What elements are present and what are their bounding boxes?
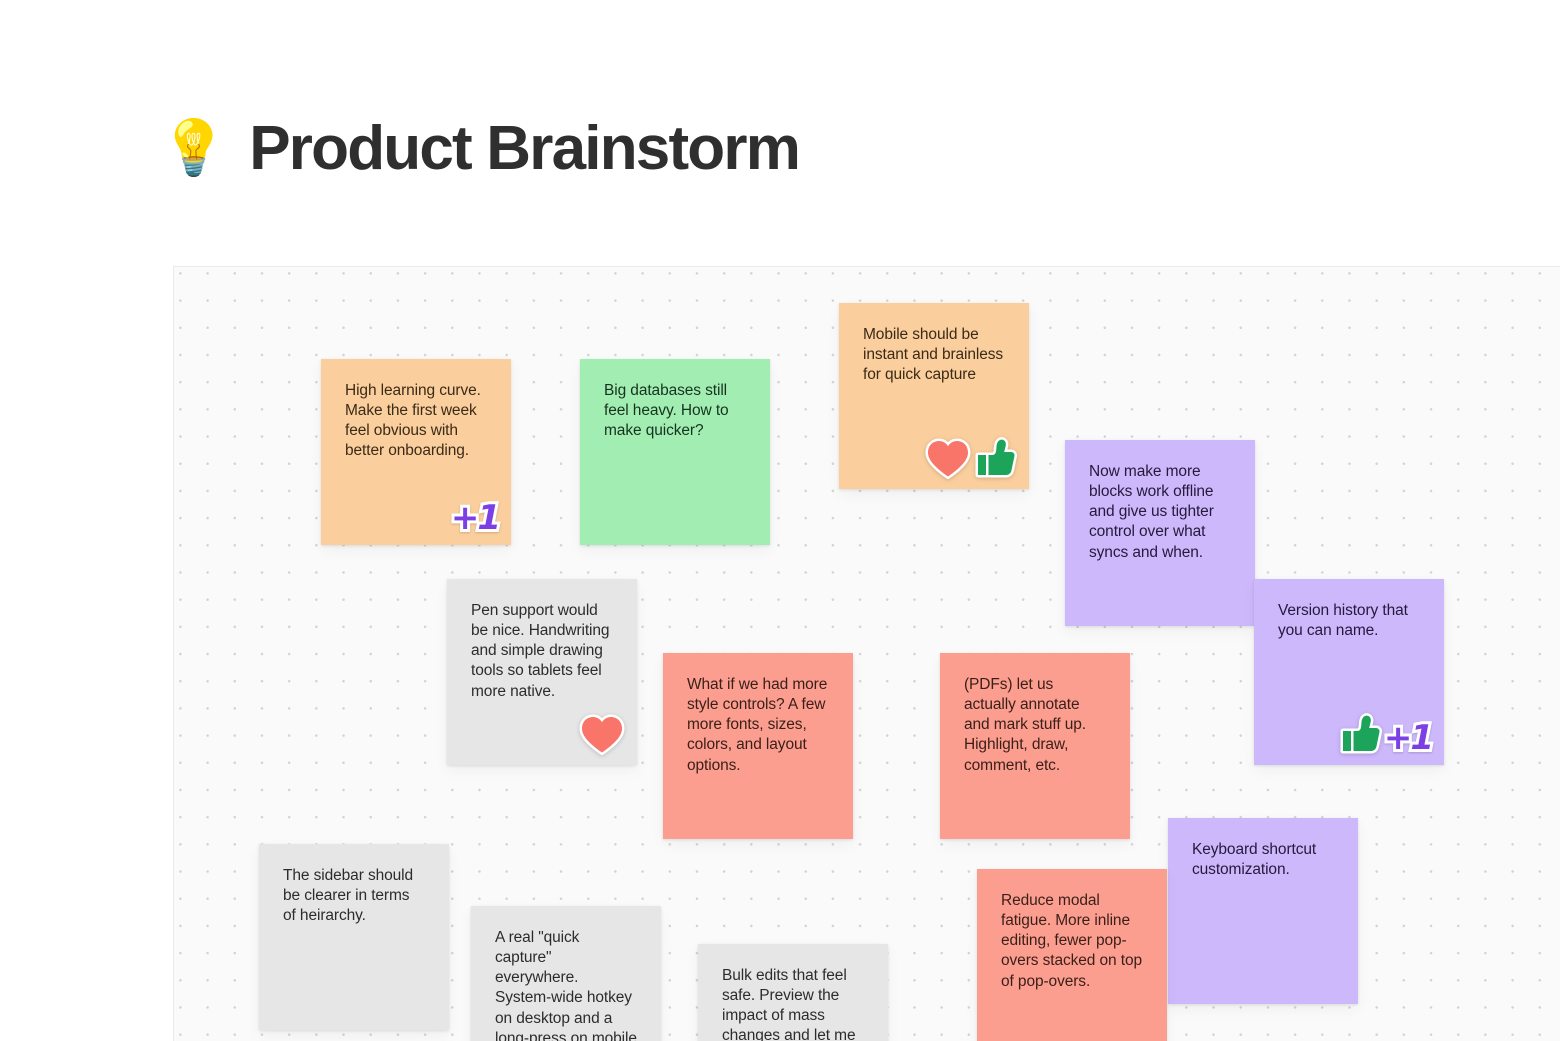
thumbs-up-sticker[interactable]: [1338, 711, 1382, 755]
plus-one-sticker[interactable]: +1: [1384, 721, 1432, 755]
sticky-note-text: The sidebar should be clearer in terms o…: [283, 866, 425, 926]
whiteboard-canvas[interactable]: High learning curve. Make the first week…: [173, 266, 1560, 1041]
sticky-note[interactable]: Reduce modal fatigue. More inline editin…: [977, 869, 1167, 1041]
sticky-note[interactable]: Version history that you can name.+1: [1254, 579, 1444, 765]
sticky-note[interactable]: Mobile should be instant and brainless f…: [839, 303, 1029, 489]
page-title: Product Brainstorm: [249, 113, 799, 184]
sticky-note-text: Bulk edits that feel safe. Preview the i…: [722, 966, 864, 1041]
sticky-note-text: Mobile should be instant and brainless f…: [863, 325, 1005, 385]
sticky-note[interactable]: High learning curve. Make the first week…: [321, 359, 511, 545]
reaction-stickers: [579, 713, 625, 755]
lightbulb-icon: 💡: [160, 121, 227, 175]
plus-one-sticker[interactable]: +1: [451, 501, 499, 535]
reaction-stickers: +1: [451, 501, 499, 535]
sticky-note[interactable]: What if we had more style controls? A fe…: [663, 653, 853, 839]
sticky-note-text: Version history that you can name.: [1278, 601, 1420, 641]
sticky-note-text: High learning curve. Make the first week…: [345, 381, 487, 462]
sticky-note[interactable]: Keyboard shortcut customization.: [1168, 818, 1358, 1004]
sticky-note[interactable]: Pen support would be nice. Handwriting a…: [447, 579, 637, 765]
sticky-note[interactable]: A real "quick capture" everywhere. Syste…: [471, 906, 661, 1041]
thumbs-up-sticker[interactable]: [973, 435, 1017, 479]
heart-sticker[interactable]: [925, 437, 971, 479]
reaction-stickers: +1: [1338, 711, 1432, 755]
reaction-stickers: [925, 435, 1017, 479]
sticky-note[interactable]: Bulk edits that feel safe. Preview the i…: [698, 944, 888, 1041]
sticky-note[interactable]: Big databases still feel heavy. How to m…: [580, 359, 770, 545]
sticky-note[interactable]: The sidebar should be clearer in terms o…: [259, 844, 449, 1030]
sticky-note-text: Pen support would be nice. Handwriting a…: [471, 601, 613, 702]
sticky-note-text: Keyboard shortcut customization.: [1192, 840, 1334, 880]
sticky-note-text: What if we had more style controls? A fe…: [687, 675, 829, 776]
sticky-note[interactable]: (PDFs) let us actually annotate and mark…: [940, 653, 1130, 839]
sticky-note-text: A real "quick capture" everywhere. Syste…: [495, 928, 637, 1041]
sticky-note-text: (PDFs) let us actually annotate and mark…: [964, 675, 1106, 776]
sticky-note[interactable]: Now make more blocks work offline and gi…: [1065, 440, 1255, 626]
sticky-note-text: Reduce modal fatigue. More inline editin…: [1001, 891, 1143, 992]
sticky-note-text: Big databases still feel heavy. How to m…: [604, 381, 746, 441]
page-header: 💡 Product Brainstorm: [160, 100, 799, 196]
heart-sticker[interactable]: [579, 713, 625, 755]
sticky-note-text: Now make more blocks work offline and gi…: [1089, 462, 1231, 563]
